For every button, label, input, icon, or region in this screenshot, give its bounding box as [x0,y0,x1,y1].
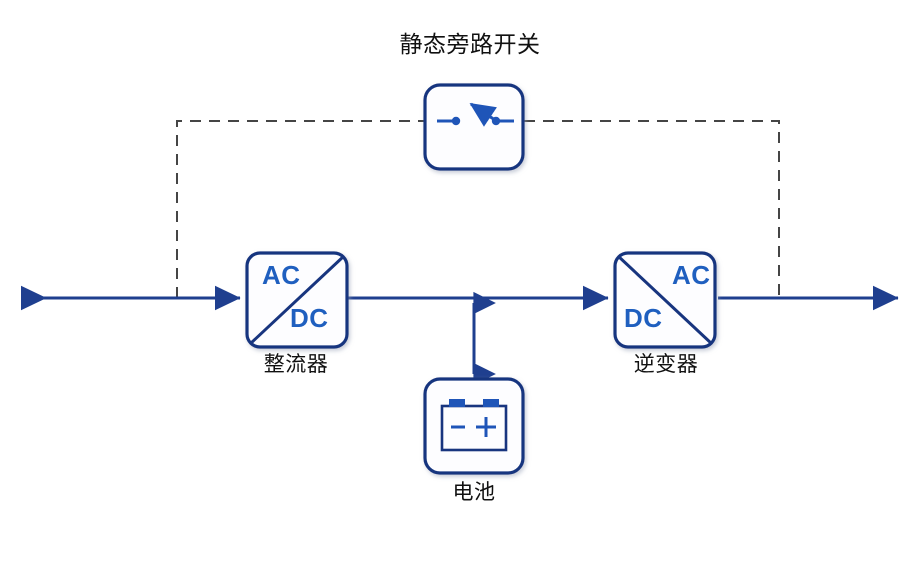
page-title: 静态旁路开关 [0,33,920,56]
rectifier-ac-text: AC [262,262,301,288]
inverter-ac-text: AC [672,262,711,288]
bypass-switch-box[interactable] [425,85,523,169]
switch-contact-left [452,117,460,125]
inverter-dc-text: DC [624,305,663,331]
bypass-switch-node[interactable] [425,85,523,169]
rectifier-label: 整流器 [216,354,376,375]
battery-terminal-negative [449,399,465,407]
battery-box[interactable] [425,379,523,473]
battery-label: 电池 [394,482,554,503]
inverter-label: 逆变器 [586,354,746,375]
ups-block-diagram: 静态旁路开关 AC DC AC DC 整流器 逆变器 电池 [0,0,920,570]
rectifier-dc-text: DC [290,305,329,331]
battery-terminal-positive [483,399,499,407]
battery-node[interactable] [425,379,523,473]
